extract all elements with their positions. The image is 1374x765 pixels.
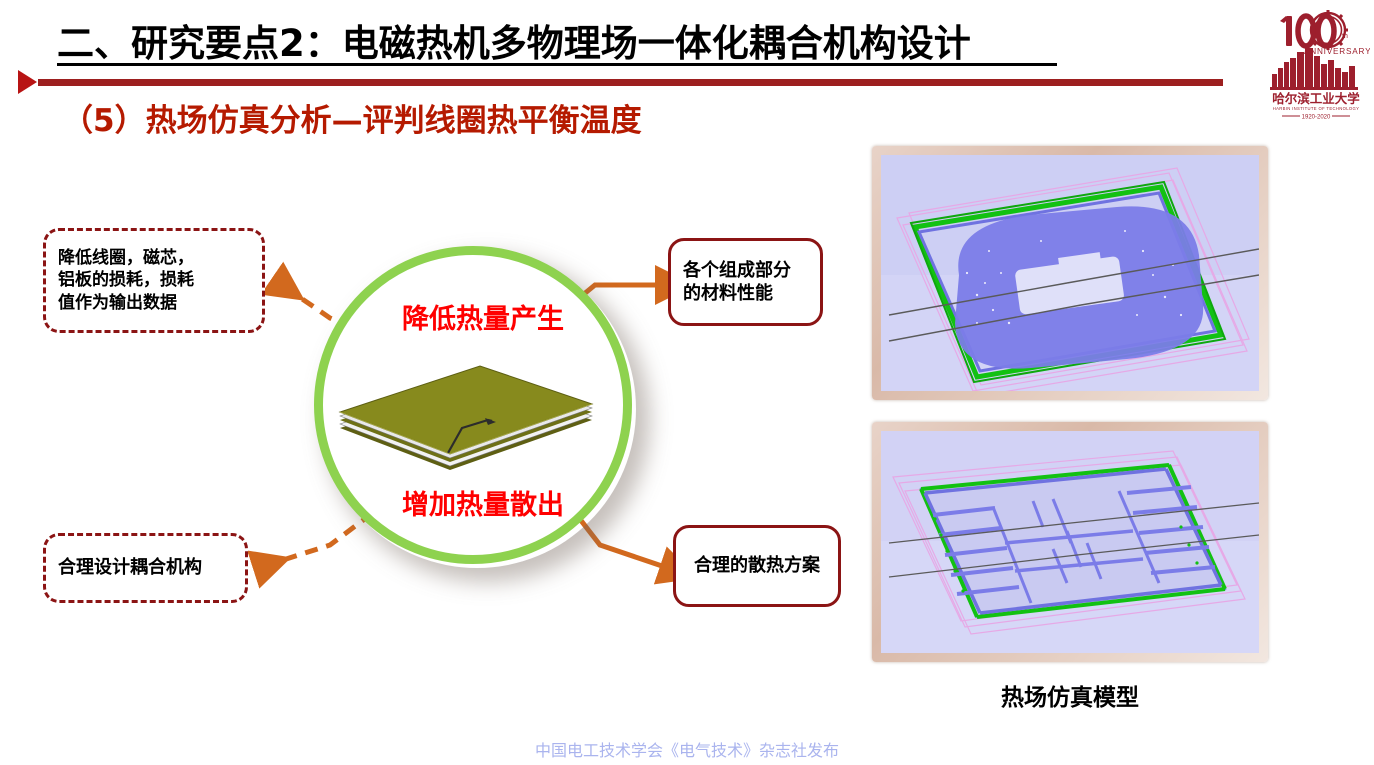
- callout-line: 值作为输出数据: [58, 292, 194, 314]
- callout-box-cooling[interactable]: 合理的散热方案: [673, 525, 841, 607]
- callout-line: 降低线圈，磁芯，: [58, 247, 194, 269]
- slide-root: 二、研究要点2：电磁热机多物理场一体化耦合机构设计 （5）热场仿真分析—评判线圈…: [0, 0, 1374, 765]
- svg-text:ANNIVERSARY: ANNIVERSARY: [1304, 47, 1370, 56]
- plate-3d-model-icon: [330, 350, 600, 480]
- callout-box-material[interactable]: 各个组成部分 的材料性能: [668, 238, 823, 326]
- callout-box-coupling-text: 合理设计耦合机构: [58, 556, 202, 579]
- footer-text: 中国电工技术学会《电气技术》杂志社发布: [0, 737, 1374, 761]
- title-rule-black: [57, 63, 1057, 66]
- simulation-caption: 热场仿真模型: [872, 678, 1268, 712]
- callout-line: 各个组成部分: [683, 259, 791, 282]
- simulation-image-coil: [872, 146, 1268, 400]
- callout-box-coupling[interactable]: 合理设计耦合机构: [43, 533, 248, 603]
- logo-university-en: HARBIN INSTITUTE OF TECHNOLOGY: [1273, 106, 1360, 111]
- callout-line: 铝板的损耗，损耗: [58, 269, 194, 291]
- section-subtitle: （5）热场仿真分析—评判线圈热平衡温度: [62, 95, 642, 140]
- callout-line: 的材料性能: [683, 282, 791, 305]
- circle-label-bottom: 增加热量散出: [383, 483, 583, 522]
- logo-years: 1920-2020: [1302, 115, 1331, 121]
- callout-box-loss[interactable]: 降低线圈，磁芯， 铝板的损耗，损耗 值作为输出数据: [43, 228, 265, 333]
- simulation-image-fins: [872, 422, 1268, 662]
- callout-box-loss-text: 降低线圈，磁芯， 铝板的损耗，损耗 值作为输出数据: [58, 247, 194, 313]
- circle-label-top: 降低热量产生: [383, 297, 583, 336]
- page-title: 二、研究要点2：电磁热机多物理场一体化耦合机构设计: [57, 13, 971, 67]
- triangle-marker-icon: [18, 70, 37, 94]
- callout-box-material-text: 各个组成部分 的材料性能: [683, 259, 791, 306]
- callout-box-cooling-text: 合理的散热方案: [694, 554, 820, 577]
- svg-text:th: th: [1342, 33, 1348, 40]
- logo-university-cn: 哈尔滨工业大学: [1272, 91, 1360, 106]
- title-rule-red: [38, 79, 1223, 86]
- university-logo: th ANNIVERSARY 哈尔滨工业大学 HARBIN INSTITU: [1262, 8, 1370, 120]
